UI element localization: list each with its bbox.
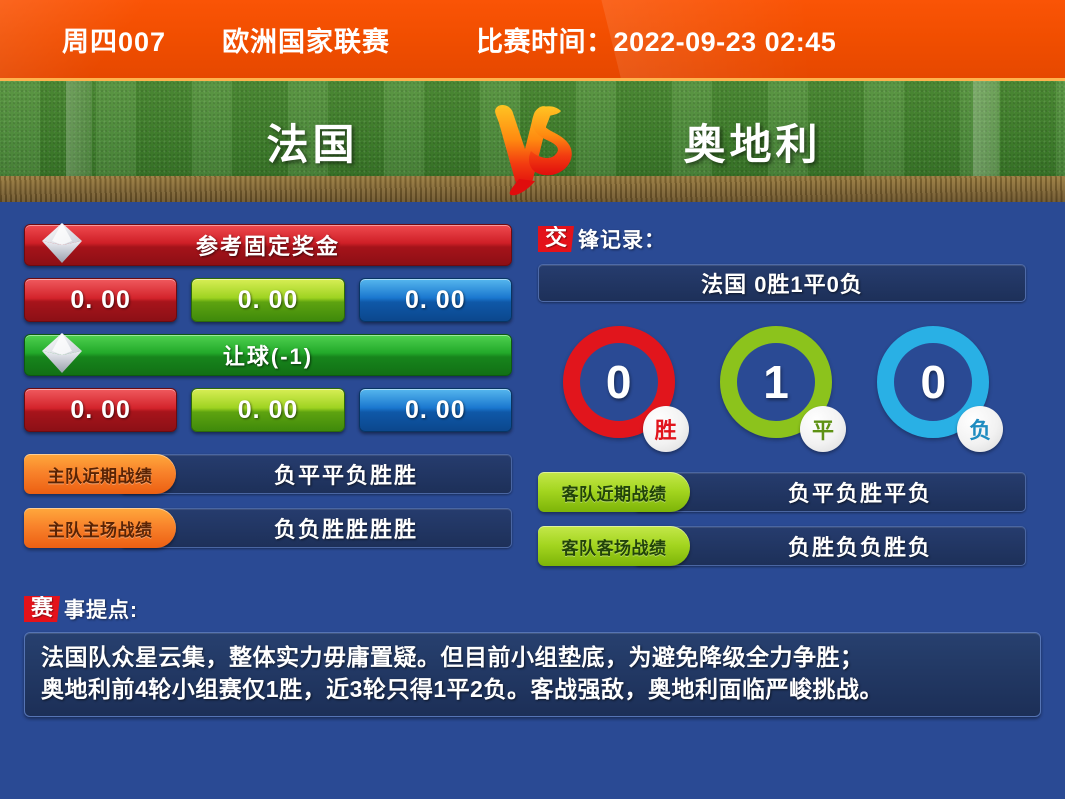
handicap-button-away-win[interactable]: 0. 00 (359, 388, 512, 432)
page-header: 周四007 欧洲国家联赛 比赛时间：2022-09-23 02:45 (0, 0, 1065, 78)
home-recent-form-value: 负平平负胜胜 (120, 454, 512, 494)
handicap-header: 让球(-1) (24, 334, 512, 376)
handicap-button-draw[interactable]: 0. 00 (191, 388, 344, 432)
header-row: 周四007 欧洲国家联赛 比赛时间：2022-09-23 02:45 (0, 20, 1065, 59)
away-recent-form-tab[interactable]: 客队近期战绩 (538, 472, 690, 512)
vs-icon (478, 87, 588, 197)
tips-title: 赛 事提点: (24, 594, 1041, 624)
columns: 参考固定奖金 0. 00 0. 00 0. 00 让球(-1) 0. 0 (0, 224, 1065, 580)
league-name: 欧洲国家联赛 (222, 20, 390, 59)
home-home-form-value: 负负胜胜胜胜 (120, 508, 512, 548)
body-content: 参考固定奖金 0. 00 0. 00 0. 00 让球(-1) 0. 0 (0, 202, 1065, 717)
home-recent-form-tab[interactable]: 主队近期战绩 (24, 454, 176, 494)
home-team-name: 法国 (148, 111, 478, 172)
ring-draw-label: 平 (800, 406, 846, 452)
home-form-section: 主队近期战绩 负平平负胜胜 主队主场战绩 负负胜胜胜胜 (24, 454, 512, 548)
diamond-icon (39, 330, 85, 376)
form-row: 主队近期战绩 负平平负胜胜 (24, 454, 512, 494)
tips-title-text: 事提点: (64, 594, 138, 624)
match-number: 周四007 (62, 20, 166, 59)
pitch-banner: 法国 奥地利 (0, 78, 1065, 202)
tips-line: 法国队众星云集，整体实力毋庸置疑。但目前小组垫底，为避免降级全力争胜； (41, 642, 1024, 674)
tips-line: 奥地利前4轮小组赛仅1胜，近3轮只得1平2负。客战强敌，奥地利面临严峻挑战。 (41, 674, 1024, 706)
form-row: 客队近期战绩 负平负胜平负 (538, 472, 1026, 512)
form-row: 主队主场战绩 负负胜胜胜胜 (24, 508, 512, 548)
h2h-title: 交 锋记录： (538, 224, 1026, 254)
home-home-form-tab[interactable]: 主队主场战绩 (24, 508, 176, 548)
tips-badge-icon: 赛 (24, 596, 60, 622)
form-row: 客队客场战绩 负胜负负胜负 (538, 526, 1026, 566)
ring-win-value: 0 (606, 359, 632, 405)
handicap-label: 让球(-1) (223, 339, 313, 371)
ring-win: 0 胜 (563, 326, 687, 450)
ring-win-label: 胜 (643, 406, 689, 452)
diamond-icon (39, 220, 85, 266)
fixed-bonus-odds-row: 0. 00 0. 00 0. 00 (24, 278, 512, 322)
tips-box: 法国队众星云集，整体实力毋庸置疑。但目前小组垫底，为避免降级全力争胜； 奥地利前… (24, 632, 1041, 717)
odds-button-draw[interactable]: 0. 00 (191, 278, 344, 322)
fixed-bonus-label: 参考固定奖金 (196, 229, 340, 261)
h2h-panel: 交 锋记录： 法国 0胜1平0负 0 胜 1 平 (538, 224, 1026, 580)
h2h-summary: 法国 0胜1平0负 (538, 264, 1026, 302)
match-time: 比赛时间：2022-09-23 02:45 (476, 20, 836, 59)
teams-row: 法国 奥地利 (0, 81, 1065, 202)
h2h-title-text: 锋记录： (578, 224, 666, 254)
away-away-form-value: 负胜负负胜负 (634, 526, 1026, 566)
ring-draw: 1 平 (720, 326, 844, 450)
away-team-name: 奥地利 (588, 111, 918, 172)
ring-loss: 0 负 (877, 326, 1001, 450)
odds-button-home-win[interactable]: 0. 00 (24, 278, 177, 322)
ring-loss-label: 负 (957, 406, 1003, 452)
ring-draw-value: 1 (763, 359, 789, 405)
h2h-badge-icon: 交 (538, 226, 574, 252)
handicap-button-home-win[interactable]: 0. 00 (24, 388, 177, 432)
odds-button-away-win[interactable]: 0. 00 (359, 278, 512, 322)
match-tips-section: 赛 事提点: 法国队众星云集，整体实力毋庸置疑。但目前小组垫底，为避免降级全力争… (24, 594, 1041, 717)
away-recent-form-value: 负平负胜平负 (634, 472, 1026, 512)
handicap-odds-row: 0. 00 0. 00 0. 00 (24, 388, 512, 432)
away-away-form-tab[interactable]: 客队客场战绩 (538, 526, 690, 566)
away-form-section: 客队近期战绩 负平负胜平负 客队客场战绩 负胜负负胜负 (538, 472, 1026, 566)
h2h-rings: 0 胜 1 平 0 负 (538, 326, 1026, 450)
fixed-bonus-header: 参考固定奖金 (24, 224, 512, 266)
odds-panel: 参考固定奖金 0. 00 0. 00 0. 00 让球(-1) 0. 0 (24, 224, 512, 580)
ring-loss-value: 0 (921, 359, 947, 405)
